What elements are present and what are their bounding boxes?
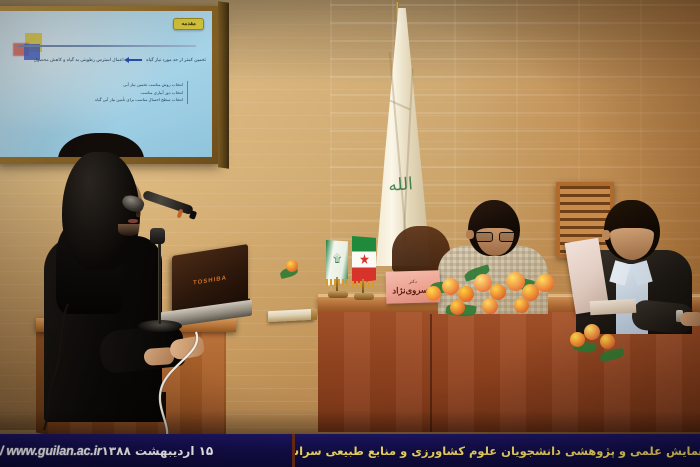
website-url[interactable]: www.guilan.ac.ir / <box>0 444 102 458</box>
flower-arrangement-center <box>424 252 556 324</box>
flower <box>442 278 459 295</box>
flower <box>600 334 615 349</box>
speaker-chin <box>118 224 140 236</box>
flag-base <box>328 291 348 298</box>
glasses-lens-left <box>475 232 493 242</box>
glasses-lens-right <box>499 232 517 242</box>
flower <box>514 298 529 313</box>
iran-desk-flag <box>352 236 378 300</box>
microphone-stand <box>158 232 161 324</box>
flower <box>426 286 441 301</box>
projection-screen: مقدمه تخمین کمتر از حد مورد نیاز گیاه اع… <box>0 11 212 157</box>
photograph-conference-presentation: مقدمه تخمین کمتر از حد مورد نیاز گیاه اع… <box>0 0 700 467</box>
book-spine <box>311 309 317 320</box>
paper-on-table <box>590 299 637 315</box>
man2-ear <box>602 230 610 240</box>
nameplate-prefix: دکتر <box>409 280 417 285</box>
flower-arrangement-small-left <box>278 258 308 286</box>
caption-bar: ۱۵ اردیبهشت ۱۳۸۸ www.guilan.ac.ir / پنجم… <box>0 434 700 467</box>
glasses-icon <box>475 232 515 240</box>
leaf <box>599 348 624 362</box>
microphone-clamp <box>150 228 165 244</box>
caption-left-section: ۱۵ اردیبهشت ۱۳۸۸ www.guilan.ac.ir / <box>0 434 292 467</box>
flower <box>536 274 554 292</box>
projection-screen-frame: مقدمه تخمین کمتر از حد مورد نیاز گیاه اع… <box>0 6 220 164</box>
event-title: پنجمین همایش علمی و پژوهشی دانشجویان علو… <box>295 444 700 458</box>
flower <box>286 260 298 272</box>
speaker-lips <box>128 219 138 223</box>
university-desk-flag: ۩ <box>326 240 350 298</box>
flower <box>570 332 585 347</box>
caption-right-section: پنجمین همایش علمی و پژوهشی دانشجویان علو… <box>295 434 700 467</box>
event-date: ۱۵ اردیبهشت ۱۳۸۸ <box>102 444 214 458</box>
man2-hand <box>680 312 700 326</box>
hijab-headscarf <box>62 152 140 270</box>
flower <box>482 298 498 314</box>
flower-arrangement-right <box>570 324 636 372</box>
flower <box>450 300 465 315</box>
caption-top-shadow <box>0 410 700 434</box>
flag-base <box>354 293 374 300</box>
flower <box>584 324 600 340</box>
university-emblem-icon: ۩ <box>333 254 344 268</box>
man1-ear <box>466 230 474 239</box>
